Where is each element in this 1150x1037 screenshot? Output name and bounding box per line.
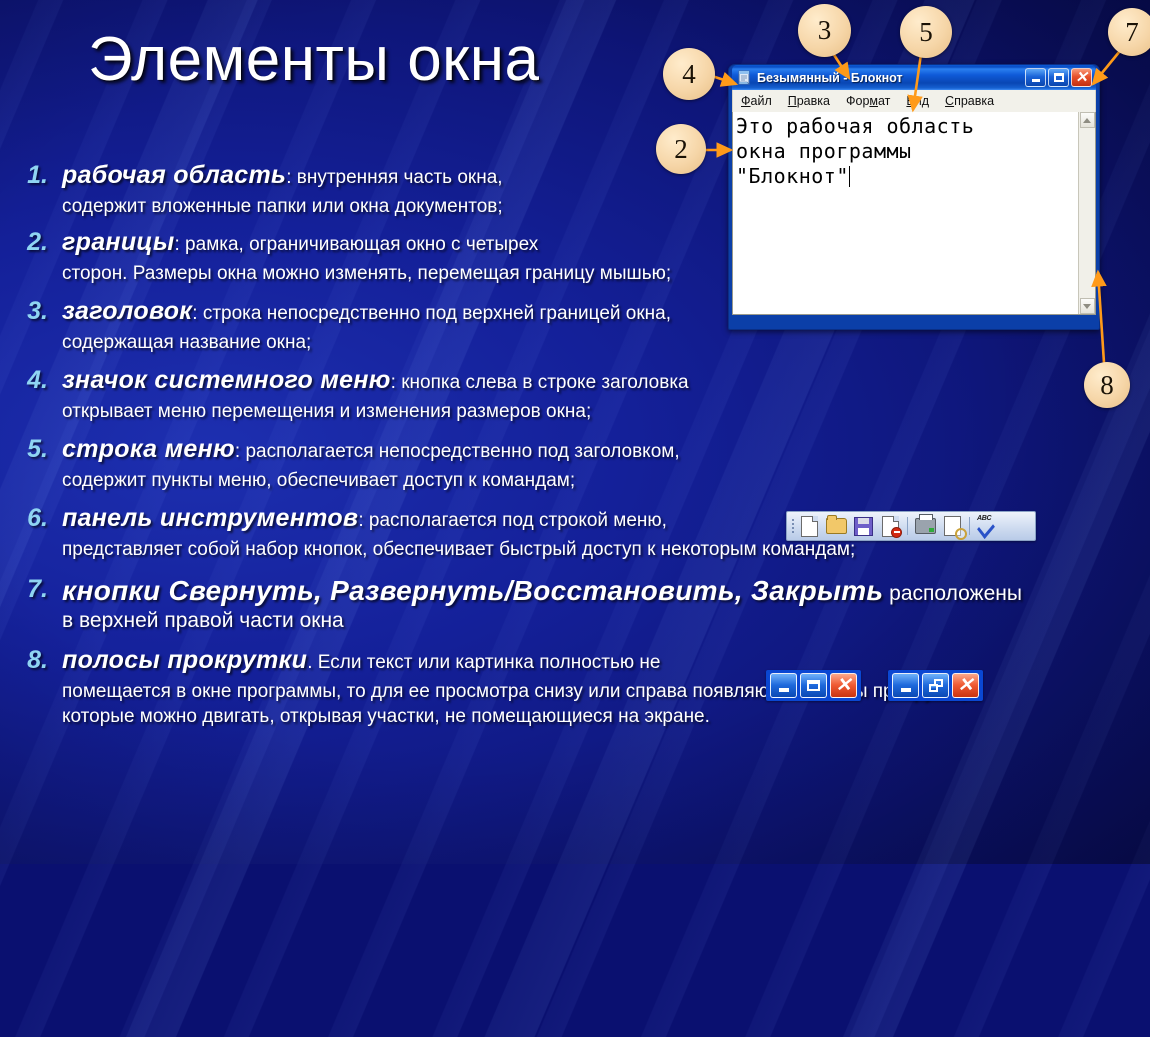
- callout-bubble-7: 7: [1108, 8, 1150, 56]
- callout-connectors: [0, 0, 1150, 864]
- callout-bubble-4: 4: [663, 48, 715, 100]
- callout-bubble-8: 8: [1084, 362, 1130, 408]
- callout-bubble-5: 5: [900, 6, 952, 58]
- callout-bubble-2: 2: [656, 124, 706, 174]
- callout-bubble-3: 3: [798, 4, 851, 57]
